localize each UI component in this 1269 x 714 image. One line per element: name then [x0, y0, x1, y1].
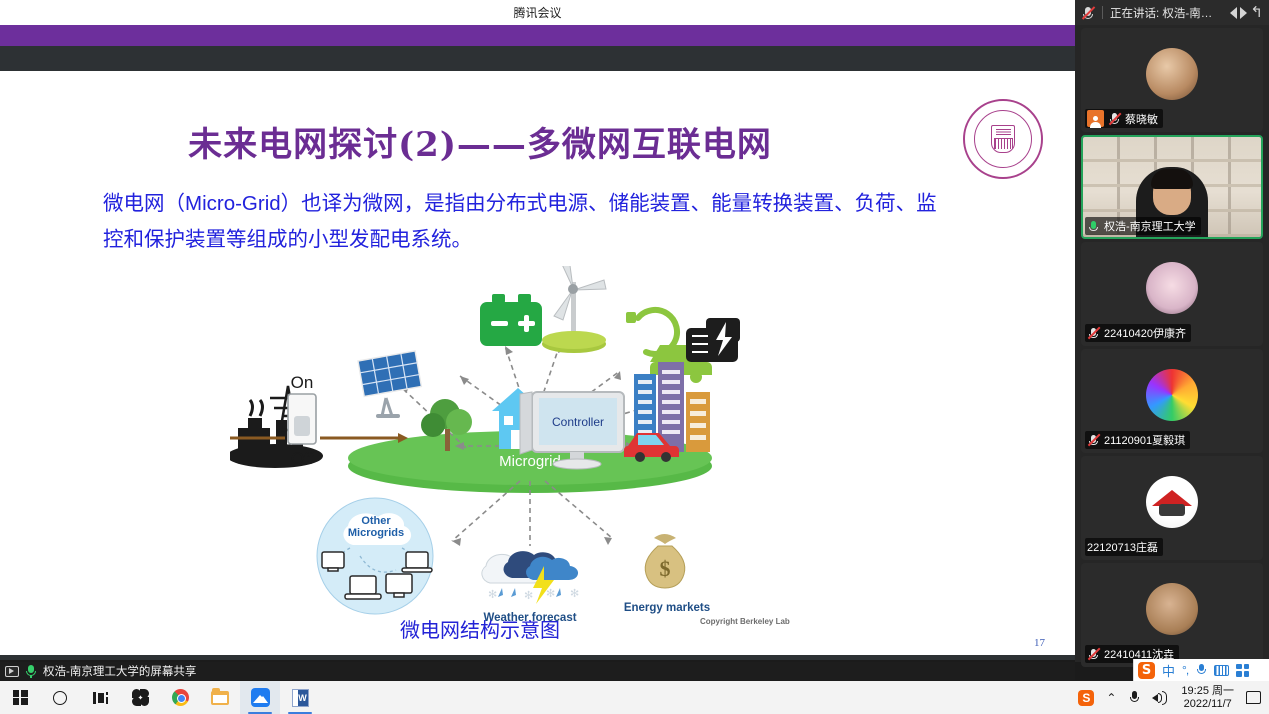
divider	[1102, 6, 1103, 19]
participant-label: 22410420伊康齐	[1085, 324, 1191, 342]
tencent-meeting-icon	[251, 688, 270, 707]
window-title: 腾讯会议	[513, 4, 561, 21]
svg-text:Controller: Controller	[552, 415, 604, 429]
sogou-logo-icon[interactable]: S	[1138, 662, 1155, 679]
participant-label: 蔡晓敏	[1085, 109, 1163, 128]
participant-avatar	[1146, 262, 1198, 314]
presentation-slide: 未来电网探讨(2)——多微网互联电网 微电网（Micro-Grid）也译为微网，…	[0, 71, 1075, 655]
participant-avatar	[1146, 583, 1198, 635]
chrome-icon	[172, 689, 189, 706]
mic-muted-icon	[1081, 6, 1095, 20]
host-badge-icon	[1087, 110, 1104, 127]
other-microgrids-icon: Other Microgrids	[317, 498, 433, 614]
mic-on-icon	[25, 664, 37, 678]
tray-time: 19:25 周一	[1181, 685, 1234, 697]
participant-label: 21120901夏毅琪	[1085, 431, 1190, 449]
participant-avatar	[1146, 369, 1198, 421]
svg-text:✻: ✻	[546, 588, 555, 600]
mic-muted-icon	[1108, 112, 1121, 125]
participant-name: 22120713庄磊	[1087, 539, 1158, 555]
svg-text:Microgrids: Microgrids	[348, 527, 404, 539]
battery-icon	[480, 294, 542, 346]
start-button[interactable]	[0, 681, 40, 714]
search-circle-icon	[53, 691, 67, 705]
switch-on-label: On	[291, 373, 314, 392]
tray-clock[interactable]: 19:25 周一 2022/11/7	[1181, 685, 1234, 711]
slide-body-text: 微电网（Micro-Grid）也译为微网，是指由分布式电源、储能装置、能量转换装…	[103, 186, 943, 258]
taskbar-app-chrome[interactable]	[160, 681, 200, 714]
participant-avatar	[1146, 476, 1198, 528]
slide-page-number: 17	[1034, 637, 1045, 649]
tray-sogou-icon[interactable]: S	[1078, 690, 1094, 706]
tray-volume-icon[interactable]	[1152, 691, 1169, 705]
ime-apps-icon[interactable]	[1236, 664, 1249, 677]
copyright-note: Copyright Berkeley Lab	[700, 617, 790, 626]
participant-tile[interactable]: 蔡晓敏	[1081, 28, 1263, 132]
mic-muted-icon	[1087, 648, 1100, 661]
notification-icon[interactable]	[1246, 691, 1261, 704]
svg-text:$: $	[660, 556, 671, 581]
taskbar-app-meeting[interactable]	[240, 681, 280, 714]
market-label: Energy markets	[624, 602, 710, 614]
slide-title: 未来电网探讨(2)——多微网互联电网	[0, 117, 960, 166]
participant-avatar	[1146, 48, 1198, 100]
mic-muted-icon	[1087, 434, 1100, 447]
shared-screen-area[interactable]: 未来电网探讨(2)——多微网互联电网 微电网（Micro-Grid）也译为微网，…	[0, 25, 1075, 660]
window-titlebar: 腾讯会议	[0, 0, 1075, 25]
solar-panel-icon	[358, 351, 421, 418]
ime-mic-icon[interactable]	[1195, 663, 1207, 677]
figure-caption: 微电网结构示意图	[0, 614, 960, 643]
njust-university-logo	[963, 99, 1043, 179]
current-speaker-label: 正在讲话: 权浩-南京理工...	[1110, 5, 1223, 21]
participant-name: 22410420伊康齐	[1104, 325, 1186, 341]
screen-share-icon	[5, 666, 19, 677]
participant-tile[interactable]: 权浩-南京理工大学	[1081, 135, 1263, 239]
wind-turbine-icon	[542, 266, 606, 353]
slide-top-band	[0, 25, 1075, 46]
participants-panel[interactable]: 蔡晓敏权浩-南京理工大学22410420伊康齐21120901夏毅琪221207…	[1075, 25, 1269, 662]
screen-root: 腾讯会议 正在讲话: 权浩-南京理工... ↰ 未来电网探讨(2)——多微网互联…	[0, 0, 1269, 714]
speaking-indicator-bar: 正在讲话: 权浩-南京理工... ↰	[1075, 0, 1269, 25]
tray-mic-icon[interactable]	[1128, 690, 1140, 705]
participant-label: 权浩-南京理工大学	[1085, 217, 1201, 235]
ime-punctuation-toggle[interactable]: °,	[1182, 663, 1188, 677]
svg-text:✻: ✻	[524, 590, 533, 602]
task-view-button[interactable]	[80, 681, 120, 714]
ime-keyboard-icon[interactable]	[1214, 665, 1229, 676]
taskbar-app-tool[interactable]	[120, 681, 160, 714]
screen-share-label: 权浩-南京理工大学的屏幕共享	[43, 663, 196, 679]
system-tray[interactable]: S ⌃ 19:25 周一 2022/11/7	[1078, 685, 1269, 711]
search-button[interactable]	[40, 681, 80, 714]
caret-left-icon[interactable]	[1230, 7, 1237, 19]
tray-chevron-up-icon[interactable]: ⌃	[1106, 691, 1116, 705]
participant-name: 权浩-南京理工大学	[1104, 218, 1196, 234]
back-arrow-icon[interactable]: ↰	[1250, 7, 1263, 19]
screen-share-status-bar: 权浩-南京理工大学的屏幕共享	[0, 662, 1075, 680]
participant-name: 蔡晓敏	[1125, 111, 1158, 127]
svg-text:✻: ✻	[488, 589, 497, 601]
caret-right-icon[interactable]	[1240, 7, 1247, 19]
participant-label: 22120713庄磊	[1085, 538, 1163, 556]
tray-date: 2022/11/7	[1184, 698, 1232, 710]
fan-app-icon	[132, 689, 149, 706]
task-view-icon	[93, 692, 108, 704]
mic-on-icon	[1087, 220, 1100, 233]
participant-tile[interactable]: 22410420伊康齐	[1081, 242, 1263, 346]
participant-tile[interactable]: 22120713庄磊	[1081, 456, 1263, 560]
participant-tile[interactable]: 21120901夏毅琪	[1081, 349, 1263, 453]
participant-name: 21120901夏毅琪	[1104, 432, 1185, 448]
ime-language-mode[interactable]: 中	[1162, 661, 1175, 680]
taskbar-app-explorer[interactable]	[200, 681, 240, 714]
svg-text:✻: ✻	[570, 588, 579, 600]
windows-taskbar[interactable]: S ⌃ 19:25 周一 2022/11/7	[0, 681, 1269, 714]
platform-label: Microgrid	[499, 453, 561, 470]
microgrid-diagram: Microgrid	[230, 266, 770, 631]
switch-off-label: Off	[291, 449, 314, 468]
mic-muted-icon	[1087, 327, 1100, 340]
sogou-ime-bar[interactable]: S 中 °,	[1133, 659, 1269, 681]
svg-text:Other: Other	[361, 515, 391, 527]
energy-market-icon: $ Energy markets	[624, 534, 710, 614]
generator-icon	[686, 318, 740, 362]
folder-icon	[211, 691, 229, 705]
windows-logo-icon	[13, 690, 28, 705]
panel-nav-controls[interactable]: ↰	[1230, 7, 1263, 19]
participant-tile[interactable]: 22410411沈垚	[1081, 563, 1263, 667]
word-icon	[292, 689, 309, 707]
taskbar-app-word[interactable]	[280, 681, 320, 714]
